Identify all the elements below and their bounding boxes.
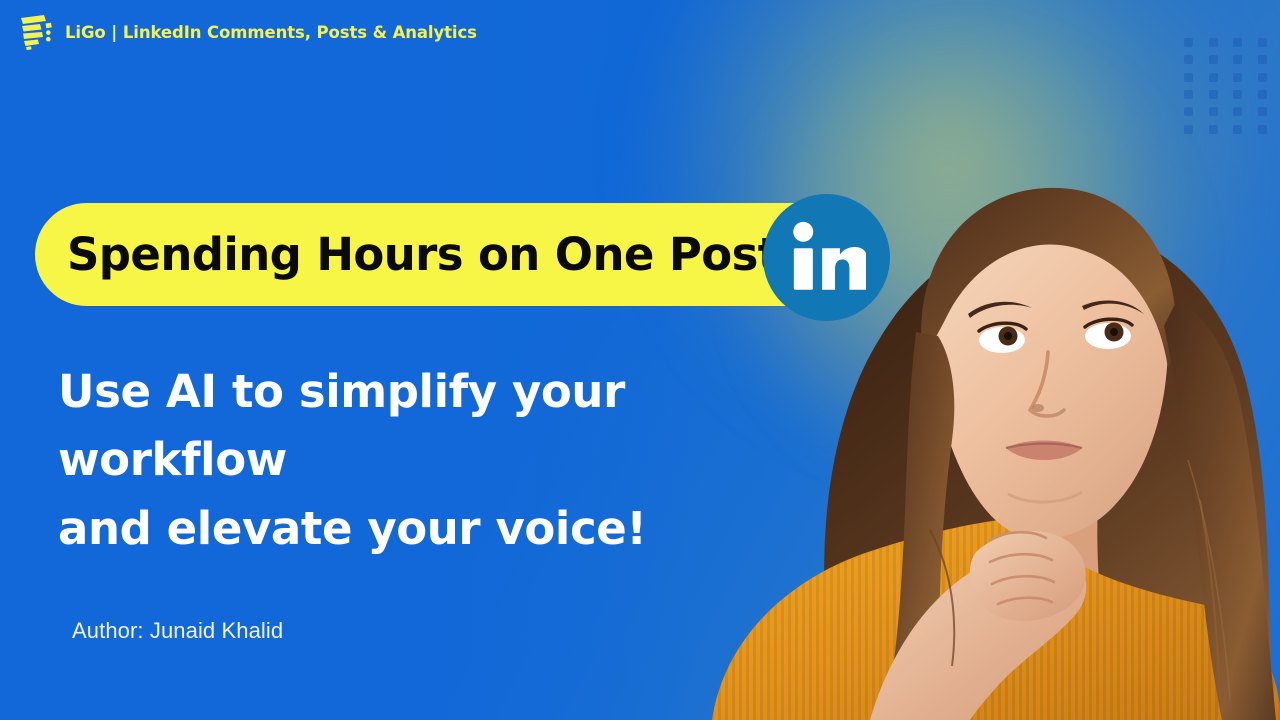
headline-pill: Spending Hours on One Post?	[35, 203, 848, 306]
dot	[1258, 73, 1267, 82]
author-label: Author: Junaid Khalid	[72, 618, 283, 644]
dot	[1209, 38, 1218, 47]
dot	[1258, 38, 1267, 47]
ligo-fan-logo-icon	[18, 14, 52, 50]
dot	[1233, 90, 1242, 99]
headline-block: Spending Hours on One Post?	[35, 203, 848, 306]
subheadline-line-2: and elevate your voice!	[58, 495, 798, 563]
headline-text: Spending Hours on One Post?	[67, 232, 804, 277]
dot	[1233, 55, 1242, 64]
dot	[1184, 55, 1193, 64]
dot	[1258, 90, 1267, 99]
subheadline-block: Use AI to simplify your workflow and ele…	[58, 358, 798, 563]
brand-name-label: LiGo | LinkedIn Comments, Posts & Analyt…	[65, 23, 477, 42]
dot	[1209, 90, 1218, 99]
dot	[1233, 38, 1242, 47]
dot	[1258, 55, 1267, 64]
dot	[1209, 55, 1218, 64]
dot	[1233, 73, 1242, 82]
dot	[1184, 90, 1193, 99]
dot	[1184, 38, 1193, 47]
brand-header[interactable]: LiGo | LinkedIn Comments, Posts & Analyt…	[18, 14, 477, 50]
social-card-canvas: LiGo | LinkedIn Comments, Posts & Analyt…	[0, 0, 1280, 720]
linkedin-icon[interactable]	[763, 194, 890, 321]
subheadline-line-1: Use AI to simplify your workflow	[58, 358, 798, 495]
dot	[1209, 73, 1218, 82]
dot	[1184, 73, 1193, 82]
